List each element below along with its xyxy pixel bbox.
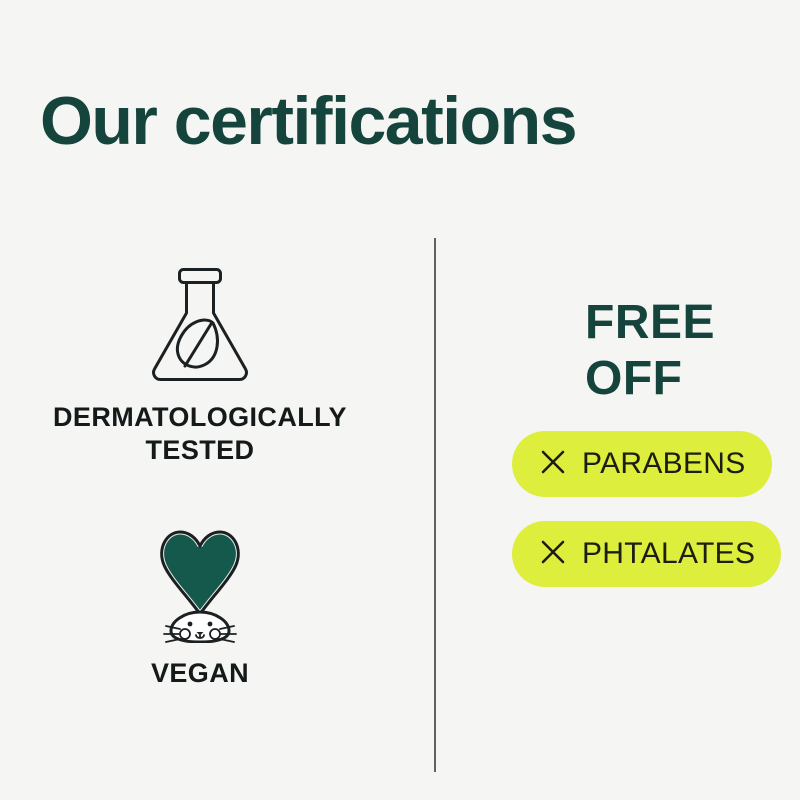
excluded-item-label: PARABENS: [582, 447, 746, 481]
excluded-item-label: PHTALATES: [582, 537, 755, 571]
certification-item-dermatologically-tested: DERMATOLOGICALLY TESTED: [0, 265, 400, 467]
certification-label: VEGAN: [0, 657, 400, 690]
certification-item-vegan: VEGAN: [0, 513, 400, 690]
excluded-item-parabens[interactable]: PARABENS: [512, 431, 772, 497]
certifications-list: DERMATOLOGICALLY TESTED: [0, 265, 400, 690]
certification-label-line1: VEGAN: [0, 657, 400, 690]
certification-label-line2: TESTED: [0, 434, 400, 467]
flask-leaf-icon: [0, 265, 400, 387]
certification-label-line1: DERMATOLOGICALLY: [0, 401, 400, 434]
rabbit-heart-ears-icon: [0, 513, 400, 643]
certifications-panel: Our certifications DERMATOLOGICALLY: [0, 0, 800, 800]
free-off-heading: FREE OFF: [512, 295, 800, 407]
vertical-divider: [434, 238, 436, 772]
x-icon: [540, 539, 566, 570]
free-off-heading-line2: OFF: [585, 351, 800, 407]
free-off-section: FREE OFF PARABENS PHTALATES: [512, 295, 800, 587]
excluded-item-phtalates[interactable]: PHTALATES: [512, 521, 781, 587]
x-icon: [540, 449, 566, 480]
certification-label: DERMATOLOGICALLY TESTED: [0, 401, 400, 467]
free-off-heading-line1: FREE: [585, 295, 800, 351]
page-title: Our certifications: [40, 82, 576, 160]
